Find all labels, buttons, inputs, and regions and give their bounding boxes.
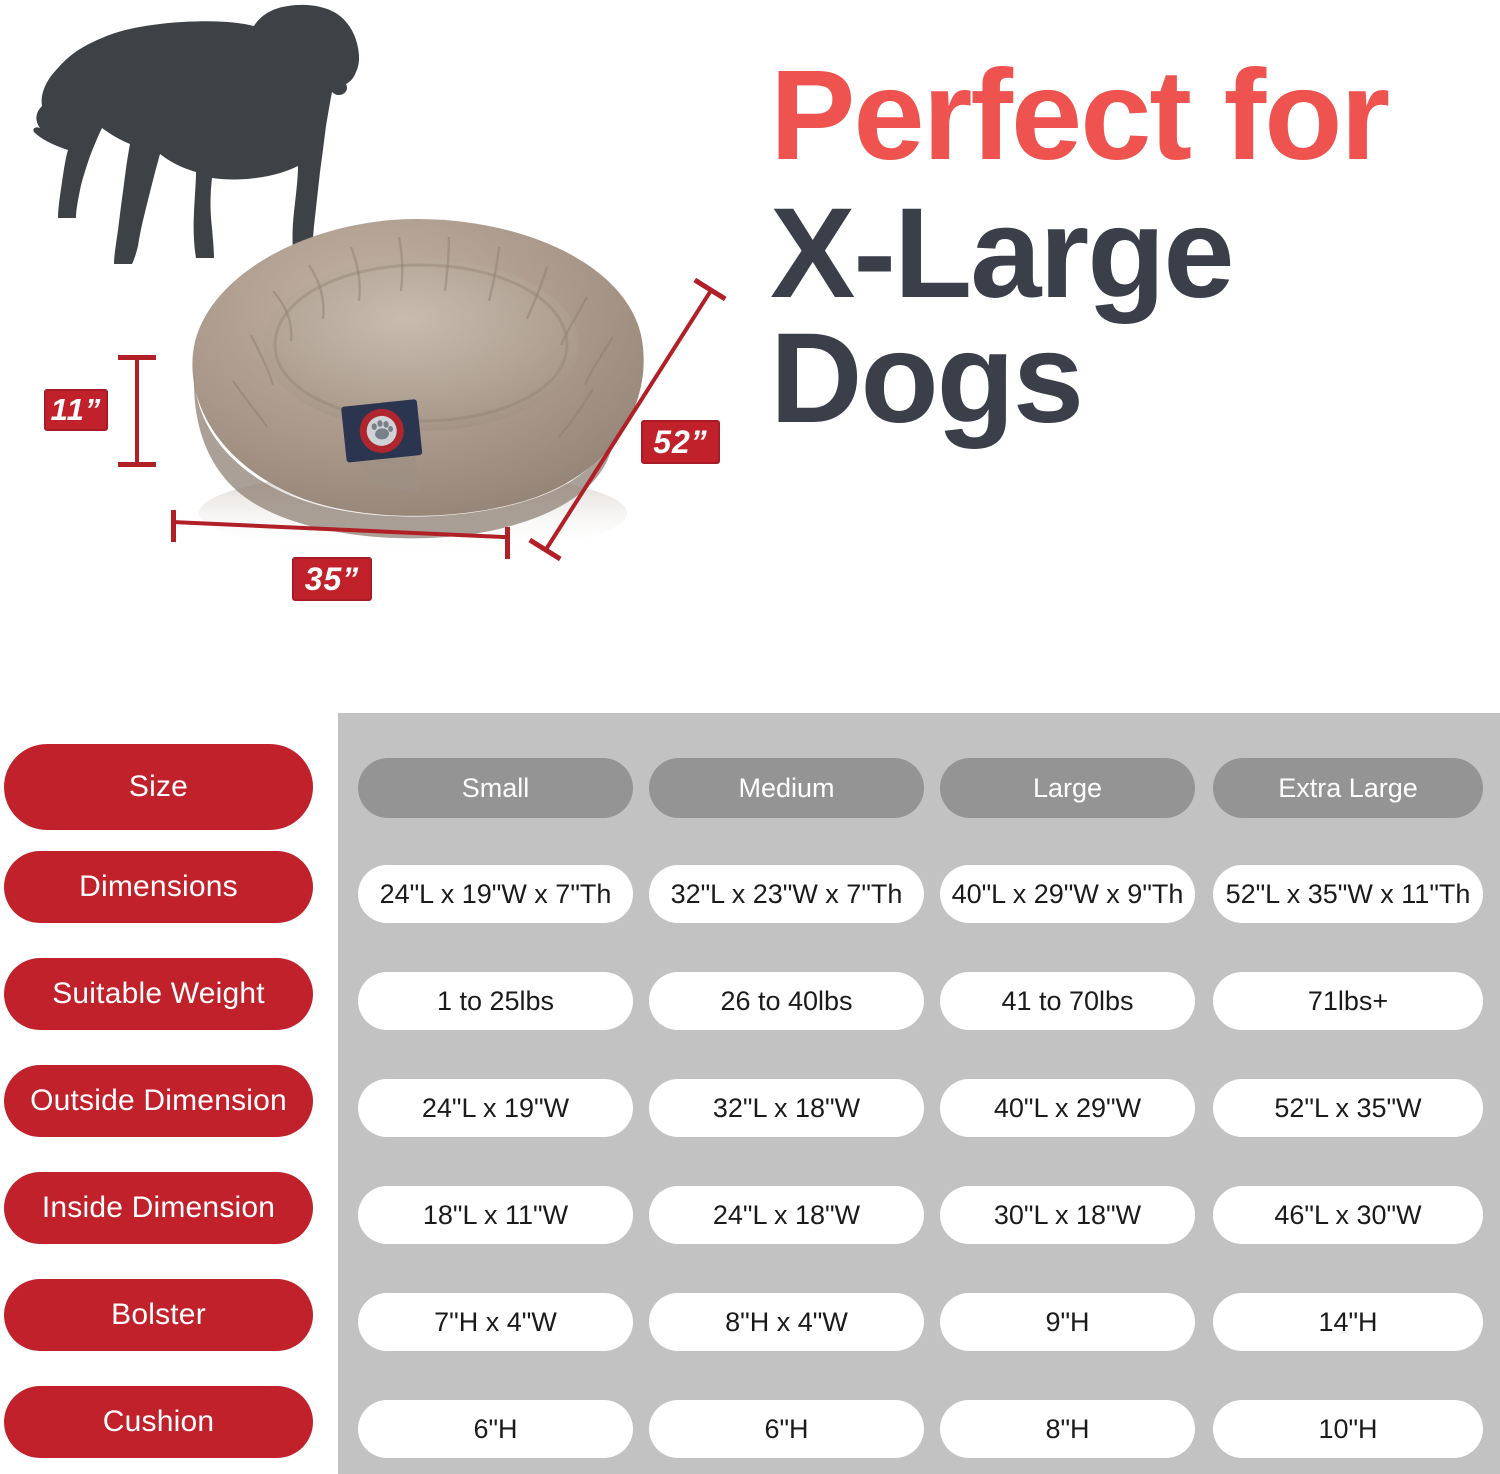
cell-suitable-weight-large: 41 to 70lbs <box>940 972 1195 1030</box>
cell-inside-dimension-small: 18"L x 11"W <box>358 1186 633 1244</box>
cell-bolster-medium: 8"H x 4"W <box>649 1293 924 1351</box>
cell-cushion-medium: 6"H <box>649 1400 924 1458</box>
cell-bolster-small: 7"H x 4"W <box>358 1293 633 1351</box>
cell-dimensions-medium: 32"L x 23"W x 7"Th <box>649 865 924 923</box>
cell-inside-dimension-medium: 24"L x 18"W <box>649 1186 924 1244</box>
height-measure-cap-top <box>118 355 156 360</box>
cell-bolster-extra-large: 14"H <box>1213 1293 1483 1351</box>
column-header-extra-large: Extra Large <box>1213 758 1483 818</box>
cell-inside-dimension-extra-large: 46"L x 30"W <box>1213 1186 1483 1244</box>
cell-suitable-weight-small: 1 to 25lbs <box>358 972 633 1030</box>
height-callout-badge: 11” <box>44 389 108 431</box>
cell-cushion-small: 6"H <box>358 1400 633 1458</box>
row-label-size: Size <box>4 744 313 830</box>
row-label-cushion: Cushion <box>4 1386 313 1458</box>
length-measure-cap-top <box>693 278 726 301</box>
row-label-dimensions: Dimensions <box>4 851 313 923</box>
headline-line-1: Perfect for <box>770 55 1490 177</box>
width-measure-cap-right <box>505 527 510 559</box>
cell-suitable-weight-extra-large: 71lbs+ <box>1213 972 1483 1030</box>
cell-cushion-extra-large: 10"H <box>1213 1400 1483 1458</box>
headline-line-2: X-Large <box>770 193 1490 315</box>
cell-outside-dimension-medium: 32"L x 18"W <box>649 1079 924 1137</box>
dog-bed-product-image <box>155 195 675 575</box>
size-chart-panel: SmallMediumLargeExtra Large24"L x 19"W x… <box>338 713 1500 1474</box>
cell-dimensions-extra-large: 52"L x 35"W x 11"Th <box>1213 865 1483 923</box>
headline-block: Perfect for X-Large Dogs <box>770 55 1490 440</box>
cell-inside-dimension-large: 30"L x 18"W <box>940 1186 1195 1244</box>
width-measure-cap-left <box>171 510 176 542</box>
row-label-bolster: Bolster <box>4 1279 313 1351</box>
width-callout-badge: 35” <box>292 557 372 601</box>
row-label-suitable-weight: Suitable Weight <box>4 958 313 1030</box>
cell-cushion-large: 8"H <box>940 1400 1195 1458</box>
row-label-inside-dimension: Inside Dimension <box>4 1172 313 1244</box>
length-callout-badge: 52” <box>641 420 720 464</box>
cell-outside-dimension-large: 40"L x 29"W <box>940 1079 1195 1137</box>
column-header-medium: Medium <box>649 758 924 818</box>
cell-outside-dimension-extra-large: 52"L x 35"W <box>1213 1079 1483 1137</box>
cell-suitable-weight-medium: 26 to 40lbs <box>649 972 924 1030</box>
cell-dimensions-small: 24"L x 19"W x 7"Th <box>358 865 633 923</box>
height-measure-cap-bottom <box>118 462 156 467</box>
column-header-small: Small <box>358 758 633 818</box>
row-label-outside-dimension: Outside Dimension <box>4 1065 313 1137</box>
height-measure-line <box>135 357 139 467</box>
headline-line-3: Dogs <box>770 318 1490 440</box>
hero-section: 11” 52” 35” Perfect for X-Large Dogs <box>0 0 1500 700</box>
size-chart-row-labels: SizeDimensionsSuitable WeightOutside Dim… <box>0 713 330 1474</box>
column-header-large: Large <box>940 758 1195 818</box>
cell-outside-dimension-small: 24"L x 19"W <box>358 1079 633 1137</box>
cell-dimensions-large: 40"L x 29"W x 9"Th <box>940 865 1195 923</box>
cell-bolster-large: 9"H <box>940 1293 1195 1351</box>
